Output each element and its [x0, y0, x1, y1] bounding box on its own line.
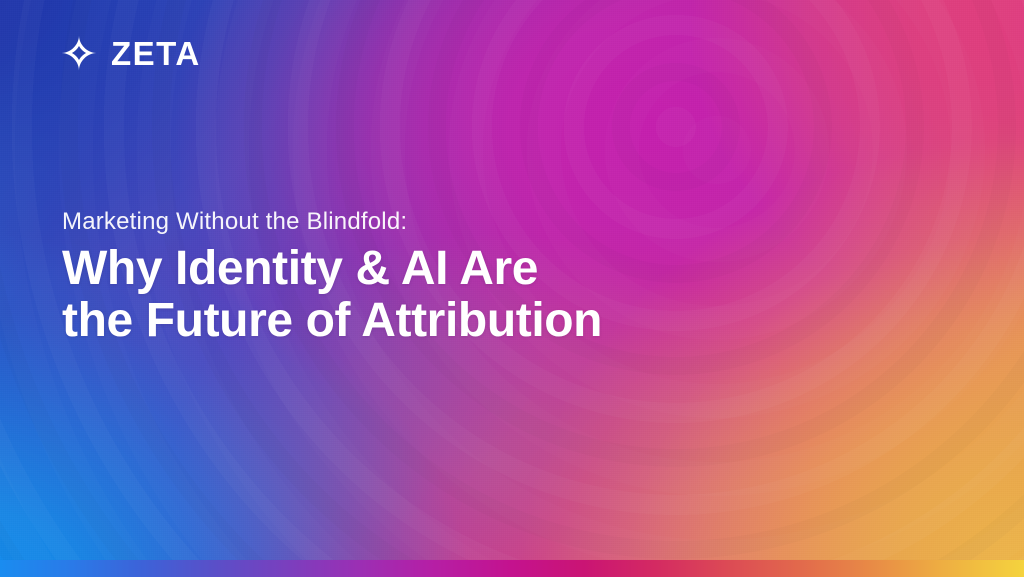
headline-line-1: Why Identity & AI Are — [62, 243, 762, 295]
brand-logo[interactable]: ZETA — [60, 34, 201, 72]
eyebrow-text: Marketing Without the Blindfold: — [62, 208, 762, 237]
headline-line-2: the Future of Attribution — [62, 295, 762, 347]
page-title: Why Identity & AI Are the Future of Attr… — [62, 243, 762, 347]
rainbow-accent-bar — [0, 560, 1024, 577]
brand-wordmark: ZETA — [111, 37, 201, 70]
zeta-diamond-icon — [60, 34, 98, 72]
title-slide: ZETA Marketing Without the Blindfold: Wh… — [0, 0, 1024, 577]
title-text-block: Marketing Without the Blindfold: Why Ide… — [62, 208, 762, 346]
